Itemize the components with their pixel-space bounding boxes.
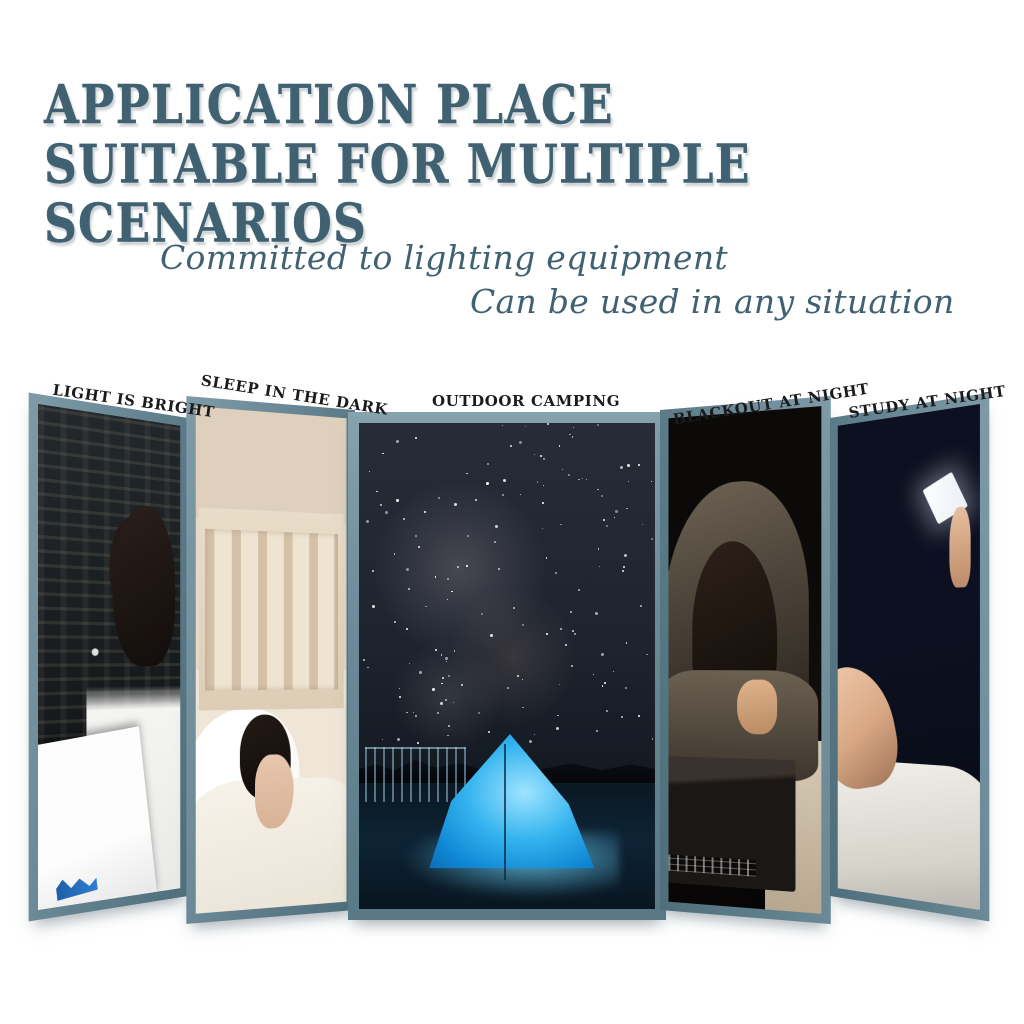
panel-label-outdoor-camping: OUTDOOR CAMPING <box>432 392 620 410</box>
blue-chart-graphic <box>55 870 98 900</box>
tent-seam <box>504 744 506 880</box>
page-title: APPLICATION PLACE SUITABLE FOR MULTIPLE … <box>44 76 1004 234</box>
scenario-panel-blackout-at-night[interactable] <box>660 396 831 924</box>
scene-image-study-at-night <box>838 404 980 910</box>
scene-image-sleep-in-the-dark <box>196 406 347 913</box>
hand-holding-light <box>949 506 970 587</box>
headboard-slats <box>205 528 338 690</box>
scene-image-blackout-at-night <box>668 406 821 914</box>
page-title-line-2: SUITABLE FOR MULTIPLE SCENARIOS <box>44 134 1004 252</box>
page-title-line-1: APPLICATION PLACE <box>44 76 1004 135</box>
desk-papers <box>38 726 157 910</box>
scenario-panel-study-at-night[interactable] <box>830 393 989 922</box>
subtitle-line-2: Can be used in any situation <box>470 282 955 321</box>
scenario-panel-sleep-in-the-dark[interactable] <box>186 396 355 924</box>
star-field <box>359 423 655 744</box>
woman-hair <box>112 502 175 666</box>
person-hand <box>737 680 777 735</box>
laptop <box>668 756 795 891</box>
scenario-panel-group <box>0 370 1024 970</box>
scenario-panel-outdoor-camping[interactable] <box>348 412 666 920</box>
laptop-keyboard <box>668 854 755 877</box>
scene-image-outdoor-camping <box>359 423 655 909</box>
scene-image-light-is-bright <box>38 404 180 910</box>
dock-railing <box>365 747 466 802</box>
subtitle-line-1: Committed to lighting equipment <box>160 238 728 277</box>
scenario-panel-light-is-bright[interactable] <box>29 393 188 922</box>
poster-canvas: APPLICATION PLACE SUITABLE FOR MULTIPLE … <box>0 0 1024 1024</box>
